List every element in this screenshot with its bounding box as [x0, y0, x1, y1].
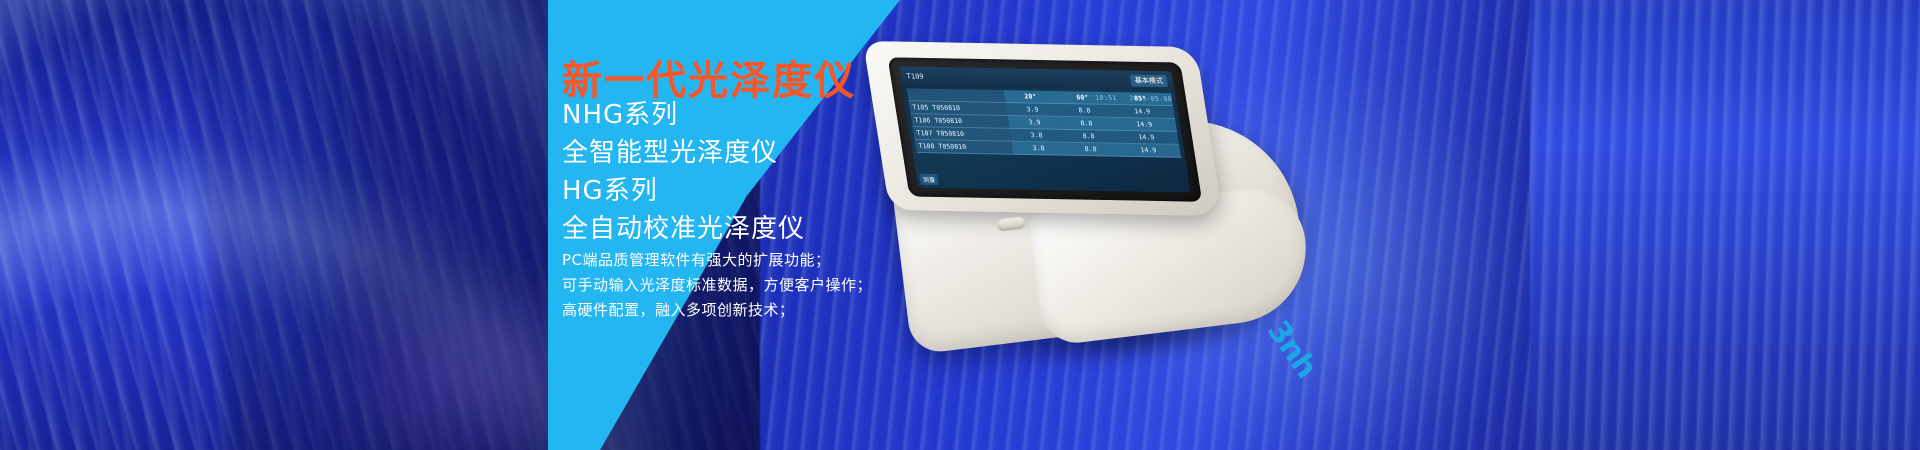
measurement-table: 20° 60° 85° T105 T050810 3.9 8.8 14.9 T1… — [907, 88, 1182, 157]
row-label: T108 T050810 — [915, 140, 1014, 155]
screen-measure-button[interactable]: 测量 — [919, 174, 939, 185]
row-value-85deg: 14.9 — [1112, 117, 1178, 131]
row-value-60deg: 8.8 — [1057, 103, 1111, 117]
row-value-60deg: 8.8 — [1062, 129, 1116, 143]
product-banner: 新一代光泽度仪 NHG系列 全智能型光泽度仪 HG系列 全自动校准光泽度仪 PC… — [0, 0, 1920, 450]
gloss-meter-device: T109 基本模式 10:51 2019-05-08 20° 60° — [856, 0, 1365, 450]
screen-bezel: T109 基本模式 10:51 2019-05-08 20° 60° — [888, 57, 1203, 201]
row-value-20deg: 3.8 — [1010, 128, 1064, 142]
device-head: T109 基本模式 10:51 2019-05-08 20° 60° — [863, 41, 1223, 216]
row-value-85deg: 14.9 — [1109, 104, 1175, 118]
row-value-20deg: 3.9 — [1005, 103, 1059, 117]
row-value-85deg: 14.9 — [1114, 130, 1180, 144]
device-screen: T109 基本模式 10:51 2019-05-08 20° 60° — [899, 66, 1191, 192]
background-far-right-streaks — [1530, 0, 1920, 450]
row-value-60deg: 8.8 — [1059, 116, 1113, 130]
screen-title: T109 — [906, 72, 924, 80]
column-header-20deg: 20° — [1003, 90, 1057, 103]
row-value-85deg: 14.9 — [1116, 143, 1182, 157]
row-value-20deg: 3.8 — [1012, 141, 1066, 155]
column-header-85deg: 85° — [1107, 92, 1172, 106]
row-value-60deg: 8.8 — [1064, 142, 1118, 156]
column-header-60deg: 60° — [1055, 91, 1109, 104]
screen-header: T109 基本模式 — [899, 66, 1175, 91]
row-value-20deg: 3.9 — [1007, 115, 1061, 129]
screen-mode-badge[interactable]: 基本模式 — [1130, 75, 1168, 88]
